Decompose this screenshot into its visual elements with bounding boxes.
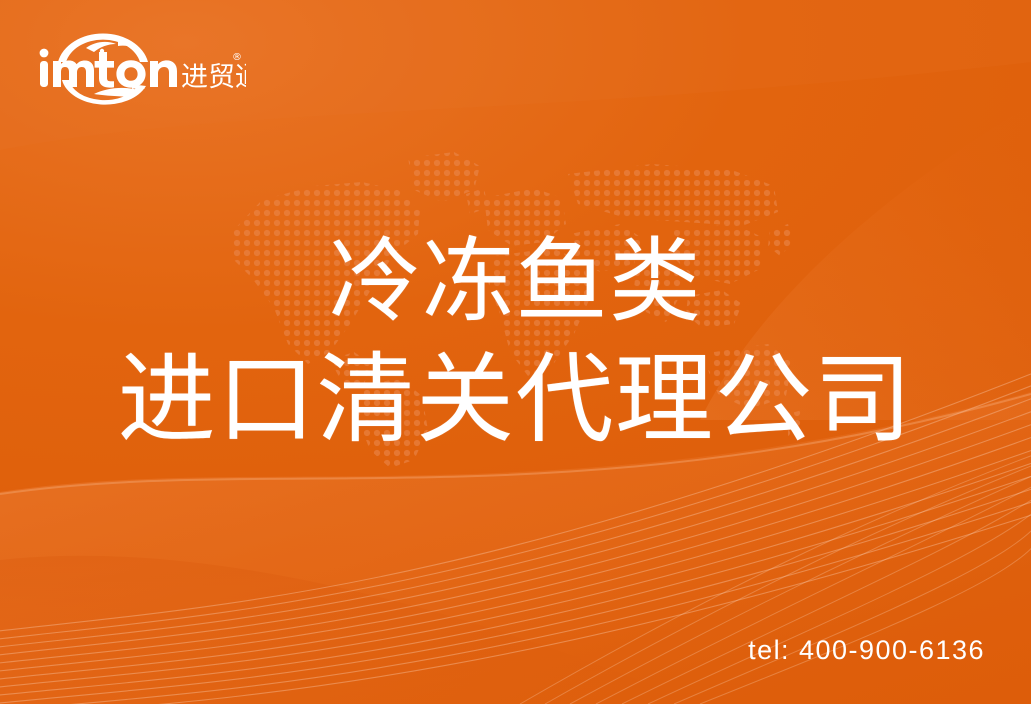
headline: 冷冻鱼类 进口清关代理公司 [0,236,1031,448]
svg-text:®: ® [232,52,242,63]
promo-banner: 进贸通 ® 冷冻鱼类 进口清关代理公司 tel: 400-900-6136 [0,0,1031,704]
brand-logo[interactable]: 进贸通 ® [36,28,246,106]
headline-line-2: 进口清关代理公司 [0,350,1031,448]
svg-text:进贸通: 进贸通 [181,62,246,93]
telephone-text: tel: 400-900-6136 [748,635,985,666]
headline-line-1: 冷冻鱼类 [0,236,1031,328]
